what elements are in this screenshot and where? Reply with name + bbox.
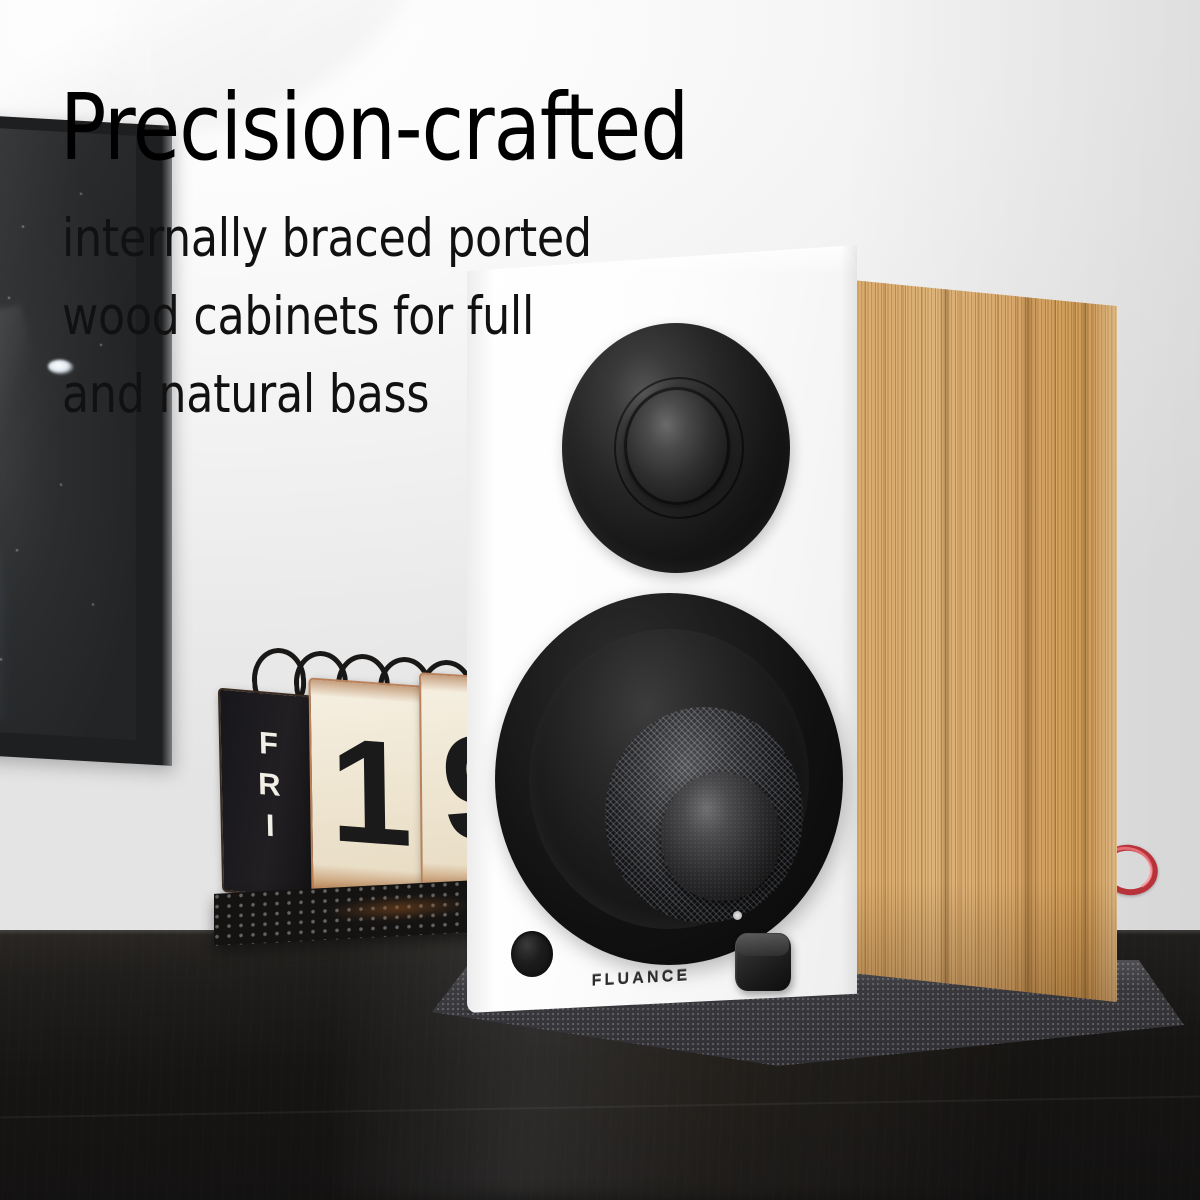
woofer-driver: [495, 593, 843, 965]
screen-dust-speck: [22, 226, 24, 228]
tweeter-dome: [624, 387, 730, 505]
screen-amber-lights: [0, 507, 28, 710]
baffle-right-edge: [841, 245, 857, 1013]
subheading-text: internally braced ported wood cabinets f…: [62, 200, 592, 434]
screen-dust-speck: [92, 603, 94, 605]
volume-knob[interactable]: [735, 933, 791, 991]
screen-dust-speck: [16, 549, 18, 551]
wood-bottom-shadow: [845, 882, 1117, 1002]
ir-receiver-port: [511, 931, 553, 977]
screen-dust-speck: [8, 297, 10, 299]
brand-badge: FLUANCE: [575, 965, 707, 992]
tweeter-driver: [562, 323, 790, 573]
dust-cap-texture: [661, 773, 781, 901]
weekday-letter-f: F: [259, 725, 280, 762]
volume-knob-top: [737, 934, 789, 956]
calendar-weekday-text: F R I: [221, 720, 320, 851]
subheading-line-2: wood cabinets for full: [62, 278, 592, 356]
woofer-dust-cap: [661, 773, 781, 901]
subheading-line-3: and natural bass: [62, 356, 592, 434]
woofer-surround: [529, 629, 809, 929]
weekday-letter-i: I: [265, 807, 275, 843]
headline-text: Precision-crafted: [60, 82, 688, 174]
subheading-line-1: internally braced ported: [62, 200, 592, 278]
calendar-weekday-card: F R I: [218, 688, 322, 901]
calendar-day-card-tens: 1: [308, 677, 433, 908]
speaker-cabinet-wood-panel: [845, 257, 1117, 1002]
weekday-letter-r: R: [258, 766, 282, 803]
product-marketing-image: F R I 1 9: [0, 0, 1200, 1200]
status-led-indicator: [733, 911, 742, 920]
screen-dust-speck: [80, 193, 82, 195]
screen-dust-speck: [60, 484, 62, 486]
screen-dust-speck: [0, 658, 2, 660]
